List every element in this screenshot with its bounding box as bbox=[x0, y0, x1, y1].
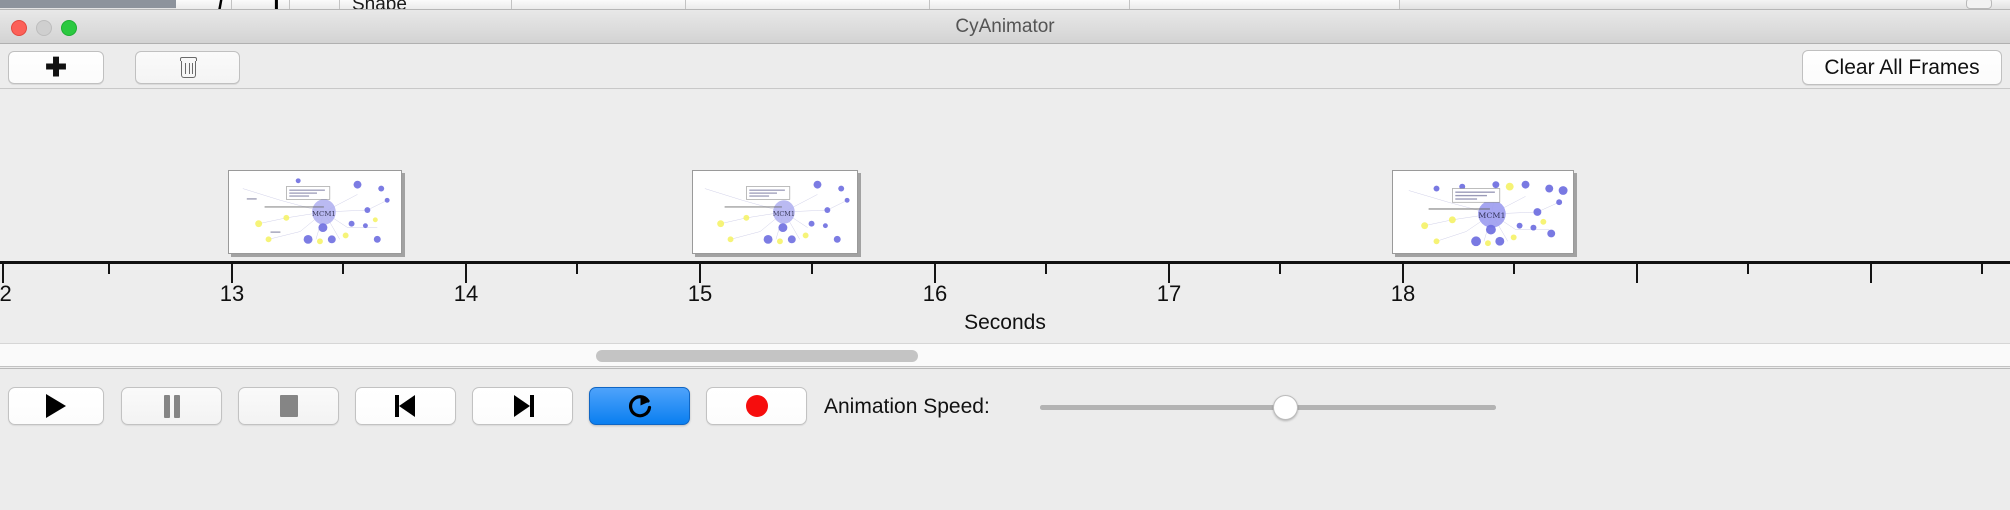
stop-icon bbox=[280, 395, 298, 417]
delete-frame-button[interactable] bbox=[135, 51, 240, 84]
tick-minor bbox=[108, 264, 110, 274]
tick-minor bbox=[1045, 264, 1047, 274]
play-icon bbox=[46, 394, 66, 418]
background-toolbar-dark bbox=[0, 0, 176, 8]
animation-speed-slider-knob[interactable] bbox=[1273, 395, 1298, 420]
tick-label: 18 bbox=[1391, 281, 1415, 307]
background-cell bbox=[512, 0, 686, 10]
tick-label: 17 bbox=[1157, 281, 1181, 307]
window-title: CyAnimator bbox=[0, 10, 2010, 44]
skip-forward-icon bbox=[512, 395, 534, 417]
stop-button[interactable] bbox=[238, 387, 339, 425]
timeline-panel[interactable]: MCM1 bbox=[0, 90, 2010, 343]
background-slash-glyph: / bbox=[218, 0, 224, 10]
timeline-ruler[interactable]: 12 13 14 15 16 17 18 Seconds bbox=[0, 255, 2010, 343]
tick-label: 16 bbox=[923, 281, 947, 307]
loop-button[interactable] bbox=[589, 387, 690, 425]
playback-toolbar: Animation Speed: bbox=[0, 368, 2010, 510]
record-button[interactable] bbox=[706, 387, 807, 425]
pause-button[interactable] bbox=[121, 387, 222, 425]
background-cell bbox=[1130, 0, 1400, 10]
network-preview: MCM1 bbox=[1393, 171, 1573, 253]
tick-minor bbox=[1513, 264, 1515, 274]
loop-icon bbox=[626, 392, 654, 420]
tick-minor bbox=[1747, 264, 1749, 274]
tick-minor bbox=[811, 264, 813, 274]
svg-text:MCM1: MCM1 bbox=[312, 210, 336, 218]
background-text-glyph: T bbox=[270, 0, 283, 10]
plus-icon: ✚ bbox=[45, 56, 67, 79]
tick-label: 13 bbox=[220, 281, 244, 307]
background-pill bbox=[1966, 0, 1992, 9]
timeline-scrollbar[interactable] bbox=[0, 343, 2010, 367]
svg-text:MCM1: MCM1 bbox=[1478, 211, 1505, 220]
scrollbar-thumb[interactable] bbox=[596, 350, 918, 362]
background-cell bbox=[290, 0, 340, 10]
tick-label: 15 bbox=[688, 281, 712, 307]
skip-to-start-button[interactable] bbox=[355, 387, 456, 425]
animation-speed-label: Animation Speed: bbox=[824, 395, 990, 419]
frame-thumbnail-3[interactable]: MCM1 bbox=[1392, 170, 1574, 254]
add-frame-button[interactable]: ✚ bbox=[8, 51, 104, 84]
cyanimator-window: / T Shape CyAnimator ✚ Clear All Frames bbox=[0, 0, 2010, 510]
clear-all-frames-button[interactable]: Clear All Frames bbox=[1802, 50, 2002, 85]
animation-speed-slider-track-right[interactable] bbox=[1040, 405, 1496, 410]
tick-minor bbox=[1981, 264, 1983, 274]
axis-title: Seconds bbox=[0, 311, 2010, 335]
axis-line bbox=[0, 261, 2010, 264]
tick-minor bbox=[342, 264, 344, 274]
background-window-title: Shape bbox=[352, 0, 407, 10]
record-icon bbox=[746, 395, 768, 417]
background-cell bbox=[686, 0, 930, 10]
tick-minor bbox=[576, 264, 578, 274]
frame-toolbar: ✚ Clear All Frames bbox=[0, 45, 2010, 89]
background-cell bbox=[930, 0, 1130, 10]
skip-back-icon bbox=[395, 395, 417, 417]
trash-icon bbox=[179, 57, 196, 78]
pause-icon bbox=[163, 395, 181, 418]
tick-label: 12 bbox=[0, 281, 12, 307]
network-preview: MCM1 bbox=[229, 171, 401, 253]
skip-to-end-button[interactable] bbox=[472, 387, 573, 425]
tick-minor bbox=[1279, 264, 1281, 274]
background-window-strip: / T Shape bbox=[0, 0, 2010, 10]
tick-label: 14 bbox=[454, 281, 478, 307]
network-preview: MCM1 bbox=[693, 171, 857, 253]
title-bar: CyAnimator bbox=[0, 10, 2010, 44]
svg-text:MCM1: MCM1 bbox=[773, 210, 795, 218]
frame-thumbnail-1[interactable]: MCM1 bbox=[228, 170, 402, 254]
tick-major bbox=[1870, 264, 1872, 283]
play-button[interactable] bbox=[8, 387, 104, 425]
tick-major bbox=[1636, 264, 1638, 283]
frame-thumbnail-2[interactable]: MCM1 bbox=[692, 170, 858, 254]
